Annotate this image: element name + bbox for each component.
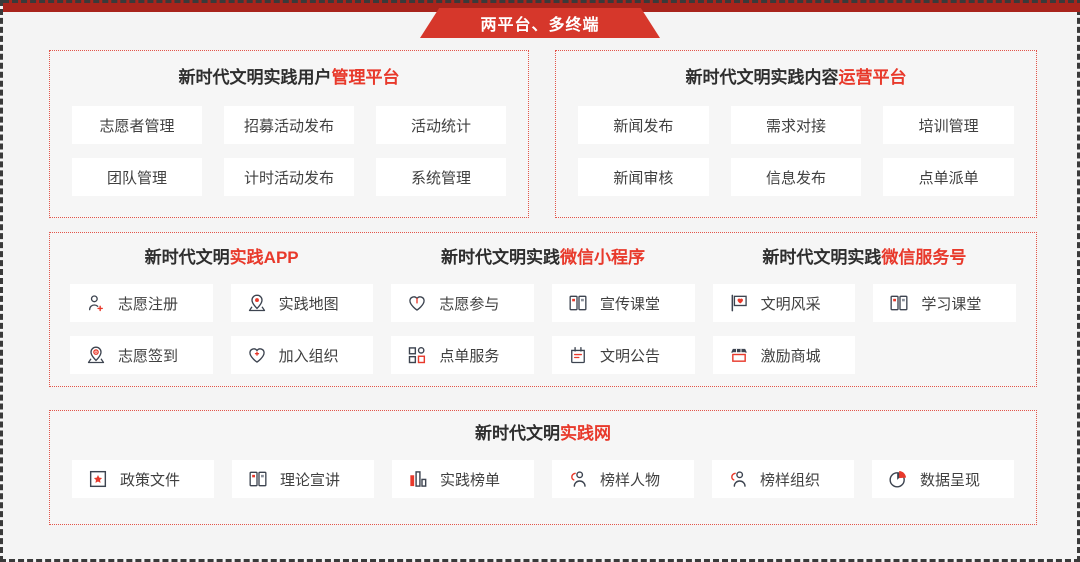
card-item[interactable]: 政策文件: [72, 460, 214, 498]
card-label: 需求对接: [766, 115, 826, 136]
card-grid-mini-program: 志愿参与 宣传课堂: [391, 284, 694, 374]
card-item[interactable]: 理论宣讲: [232, 460, 374, 498]
card-item[interactable]: 数据呈现: [872, 460, 1014, 498]
panel-title-user-management: 新时代文明实践用户管理平台: [50, 69, 528, 86]
card-item[interactable]: 文明公告: [552, 336, 695, 374]
card-item[interactable]: 点单服务: [391, 336, 534, 374]
map-pin-icon: [247, 293, 267, 313]
card-item[interactable]: 加入组织: [231, 336, 374, 374]
card-item[interactable]: 新闻审核: [578, 158, 709, 196]
open-book-icon: [889, 293, 909, 313]
title-highlight: 管理平台: [332, 68, 400, 87]
card-label: 学习课堂: [921, 293, 981, 314]
card-label: 点单服务: [439, 345, 499, 366]
card-label: 实践榜单: [440, 469, 500, 490]
card-label: 实践地图: [279, 293, 339, 314]
card-grid-app: 志愿注册 实践地图: [70, 284, 373, 374]
card-item[interactable]: 实践榜单: [392, 460, 534, 498]
card-label: 系统管理: [411, 167, 471, 188]
panel-user-management-platform: 新时代文明实践用户管理平台 志愿者管理 招募活动发布 活动统计 团队管理 计时活…: [49, 50, 529, 218]
bar-chart-icon: [408, 469, 428, 489]
card-label: 志愿参与: [439, 293, 499, 314]
banner-title: 两平台、多终端: [480, 11, 599, 35]
title-plain: 新时代文明: [145, 248, 230, 267]
card-label: 榜样组织: [760, 469, 820, 490]
column-title-service-account: 新时代文明实践微信服务号: [713, 249, 1016, 266]
open-book-icon: [568, 293, 588, 313]
card-grid-content-operation: 新闻发布 需求对接 培训管理 新闻审核 信息发布 点单派单: [556, 106, 1036, 196]
title-plain: 新时代文明: [475, 424, 560, 443]
card-label: 点单派单: [919, 167, 979, 188]
card-item[interactable]: 榜样人物: [552, 460, 694, 498]
column-service-account: 新时代文明实践微信服务号 文明风采: [713, 249, 1016, 374]
heart-icon: [407, 293, 427, 313]
map-pin-check-icon: [86, 345, 106, 365]
panel-practice-website: 新时代文明实践网 政策文件: [49, 410, 1037, 525]
card-item[interactable]: 志愿签到: [70, 336, 213, 374]
card-item[interactable]: 榜样组织: [712, 460, 854, 498]
column-title-app: 新时代文明实践APP: [70, 249, 373, 266]
card-grid-service-account: 文明风采 学习课堂: [713, 284, 1016, 374]
announcement-board-icon: [568, 345, 588, 365]
card-label: 志愿者管理: [99, 115, 174, 136]
user-plus-icon: [86, 293, 106, 313]
column-title-mini-program: 新时代文明实践微信小程序: [391, 249, 694, 266]
title-highlight: 微信服务号: [881, 248, 966, 267]
card-label: 政策文件: [120, 469, 180, 490]
card-item[interactable]: 系统管理: [376, 158, 506, 196]
card-item[interactable]: 志愿者管理: [72, 106, 202, 144]
title-plain: 新时代文明实践用户: [179, 68, 332, 87]
card-item[interactable]: 志愿参与: [391, 284, 534, 322]
person-award-icon: [568, 469, 588, 489]
open-book-icon: [248, 469, 268, 489]
flag-heart-icon: [729, 293, 749, 313]
card-label: 招募活动发布: [244, 115, 334, 136]
card-label: 团队管理: [107, 167, 167, 188]
card-label: 培训管理: [919, 115, 979, 136]
card-label: 数据呈现: [920, 469, 980, 490]
panel-title-practice-website: 新时代文明实践网: [50, 425, 1036, 442]
card-label: 激励商城: [761, 345, 821, 366]
title-plain: 新时代文明实践内容: [686, 68, 839, 87]
card-item[interactable]: 宣传课堂: [552, 284, 695, 322]
card-item[interactable]: 志愿注册: [70, 284, 213, 322]
panel-title-content-operation: 新时代文明实践内容运营平台: [556, 69, 1036, 86]
card-item[interactable]: 激励商城: [713, 336, 856, 374]
title-highlight: 实践APP: [230, 248, 299, 267]
card-grid-user-management: 志愿者管理 招募活动发布 活动统计 团队管理 计时活动发布 系统管理: [50, 106, 528, 196]
card-label: 榜样人物: [600, 469, 660, 490]
people-award-icon: [728, 469, 748, 489]
card-label: 文明公告: [600, 345, 660, 366]
card-label: 文明风采: [761, 293, 821, 314]
panel-terminals: 新时代文明实践APP 志愿注册: [49, 232, 1037, 387]
card-label: 理论宣讲: [280, 469, 340, 490]
card-label: 志愿注册: [118, 293, 178, 314]
infographic-root: 两平台、多终端 新时代文明实践用户管理平台 志愿者管理 招募活动发布 活动统计 …: [0, 0, 1080, 562]
title-highlight: 实践网: [560, 424, 611, 443]
column-app: 新时代文明实践APP 志愿注册: [70, 249, 373, 374]
heart-plus-icon: [247, 345, 267, 365]
card-item[interactable]: 点单派单: [883, 158, 1014, 196]
top-dashed-edge: [3, 0, 1080, 3]
shop-icon: [729, 345, 749, 365]
card-label: 新闻审核: [613, 167, 673, 188]
pie-chart-icon: [888, 469, 908, 489]
card-item[interactable]: 新闻发布: [578, 106, 709, 144]
title-highlight: 微信小程序: [560, 248, 645, 267]
card-label: 新闻发布: [613, 115, 673, 136]
card-item[interactable]: 需求对接: [731, 106, 862, 144]
card-grid-website: 政策文件 理论宣讲: [50, 460, 1036, 498]
title-highlight: 运营平台: [839, 68, 907, 87]
card-item[interactable]: 信息发布: [731, 158, 862, 196]
card-item[interactable]: 活动统计: [376, 106, 506, 144]
column-mini-program: 新时代文明实践微信小程序 志愿参与: [391, 249, 694, 374]
card-item[interactable]: 培训管理: [883, 106, 1014, 144]
card-item[interactable]: 计时活动发布: [224, 158, 354, 196]
card-label: 信息发布: [766, 167, 826, 188]
title-plain: 新时代文明实践: [441, 248, 560, 267]
card-item[interactable]: 团队管理: [72, 158, 202, 196]
card-label: 加入组织: [279, 345, 339, 366]
title-plain: 新时代文明实践: [762, 248, 881, 267]
banner-ribbon: 两平台、多终端: [420, 8, 660, 38]
card-item[interactable]: 学习课堂: [873, 284, 1016, 322]
card-item[interactable]: 实践地图: [231, 284, 374, 322]
card-label: 计时活动发布: [244, 167, 334, 188]
star-document-icon: [88, 469, 108, 489]
service-grid-icon: [407, 345, 427, 365]
card-label: 志愿签到: [118, 345, 178, 366]
card-label: 活动统计: [411, 115, 471, 136]
card-label: 宣传课堂: [600, 293, 660, 314]
card-item[interactable]: 招募活动发布: [224, 106, 354, 144]
card-item[interactable]: 文明风采: [713, 284, 856, 322]
panel-content-operation-platform: 新时代文明实践内容运营平台 新闻发布 需求对接 培训管理 新闻审核 信息发布 点…: [555, 50, 1037, 218]
